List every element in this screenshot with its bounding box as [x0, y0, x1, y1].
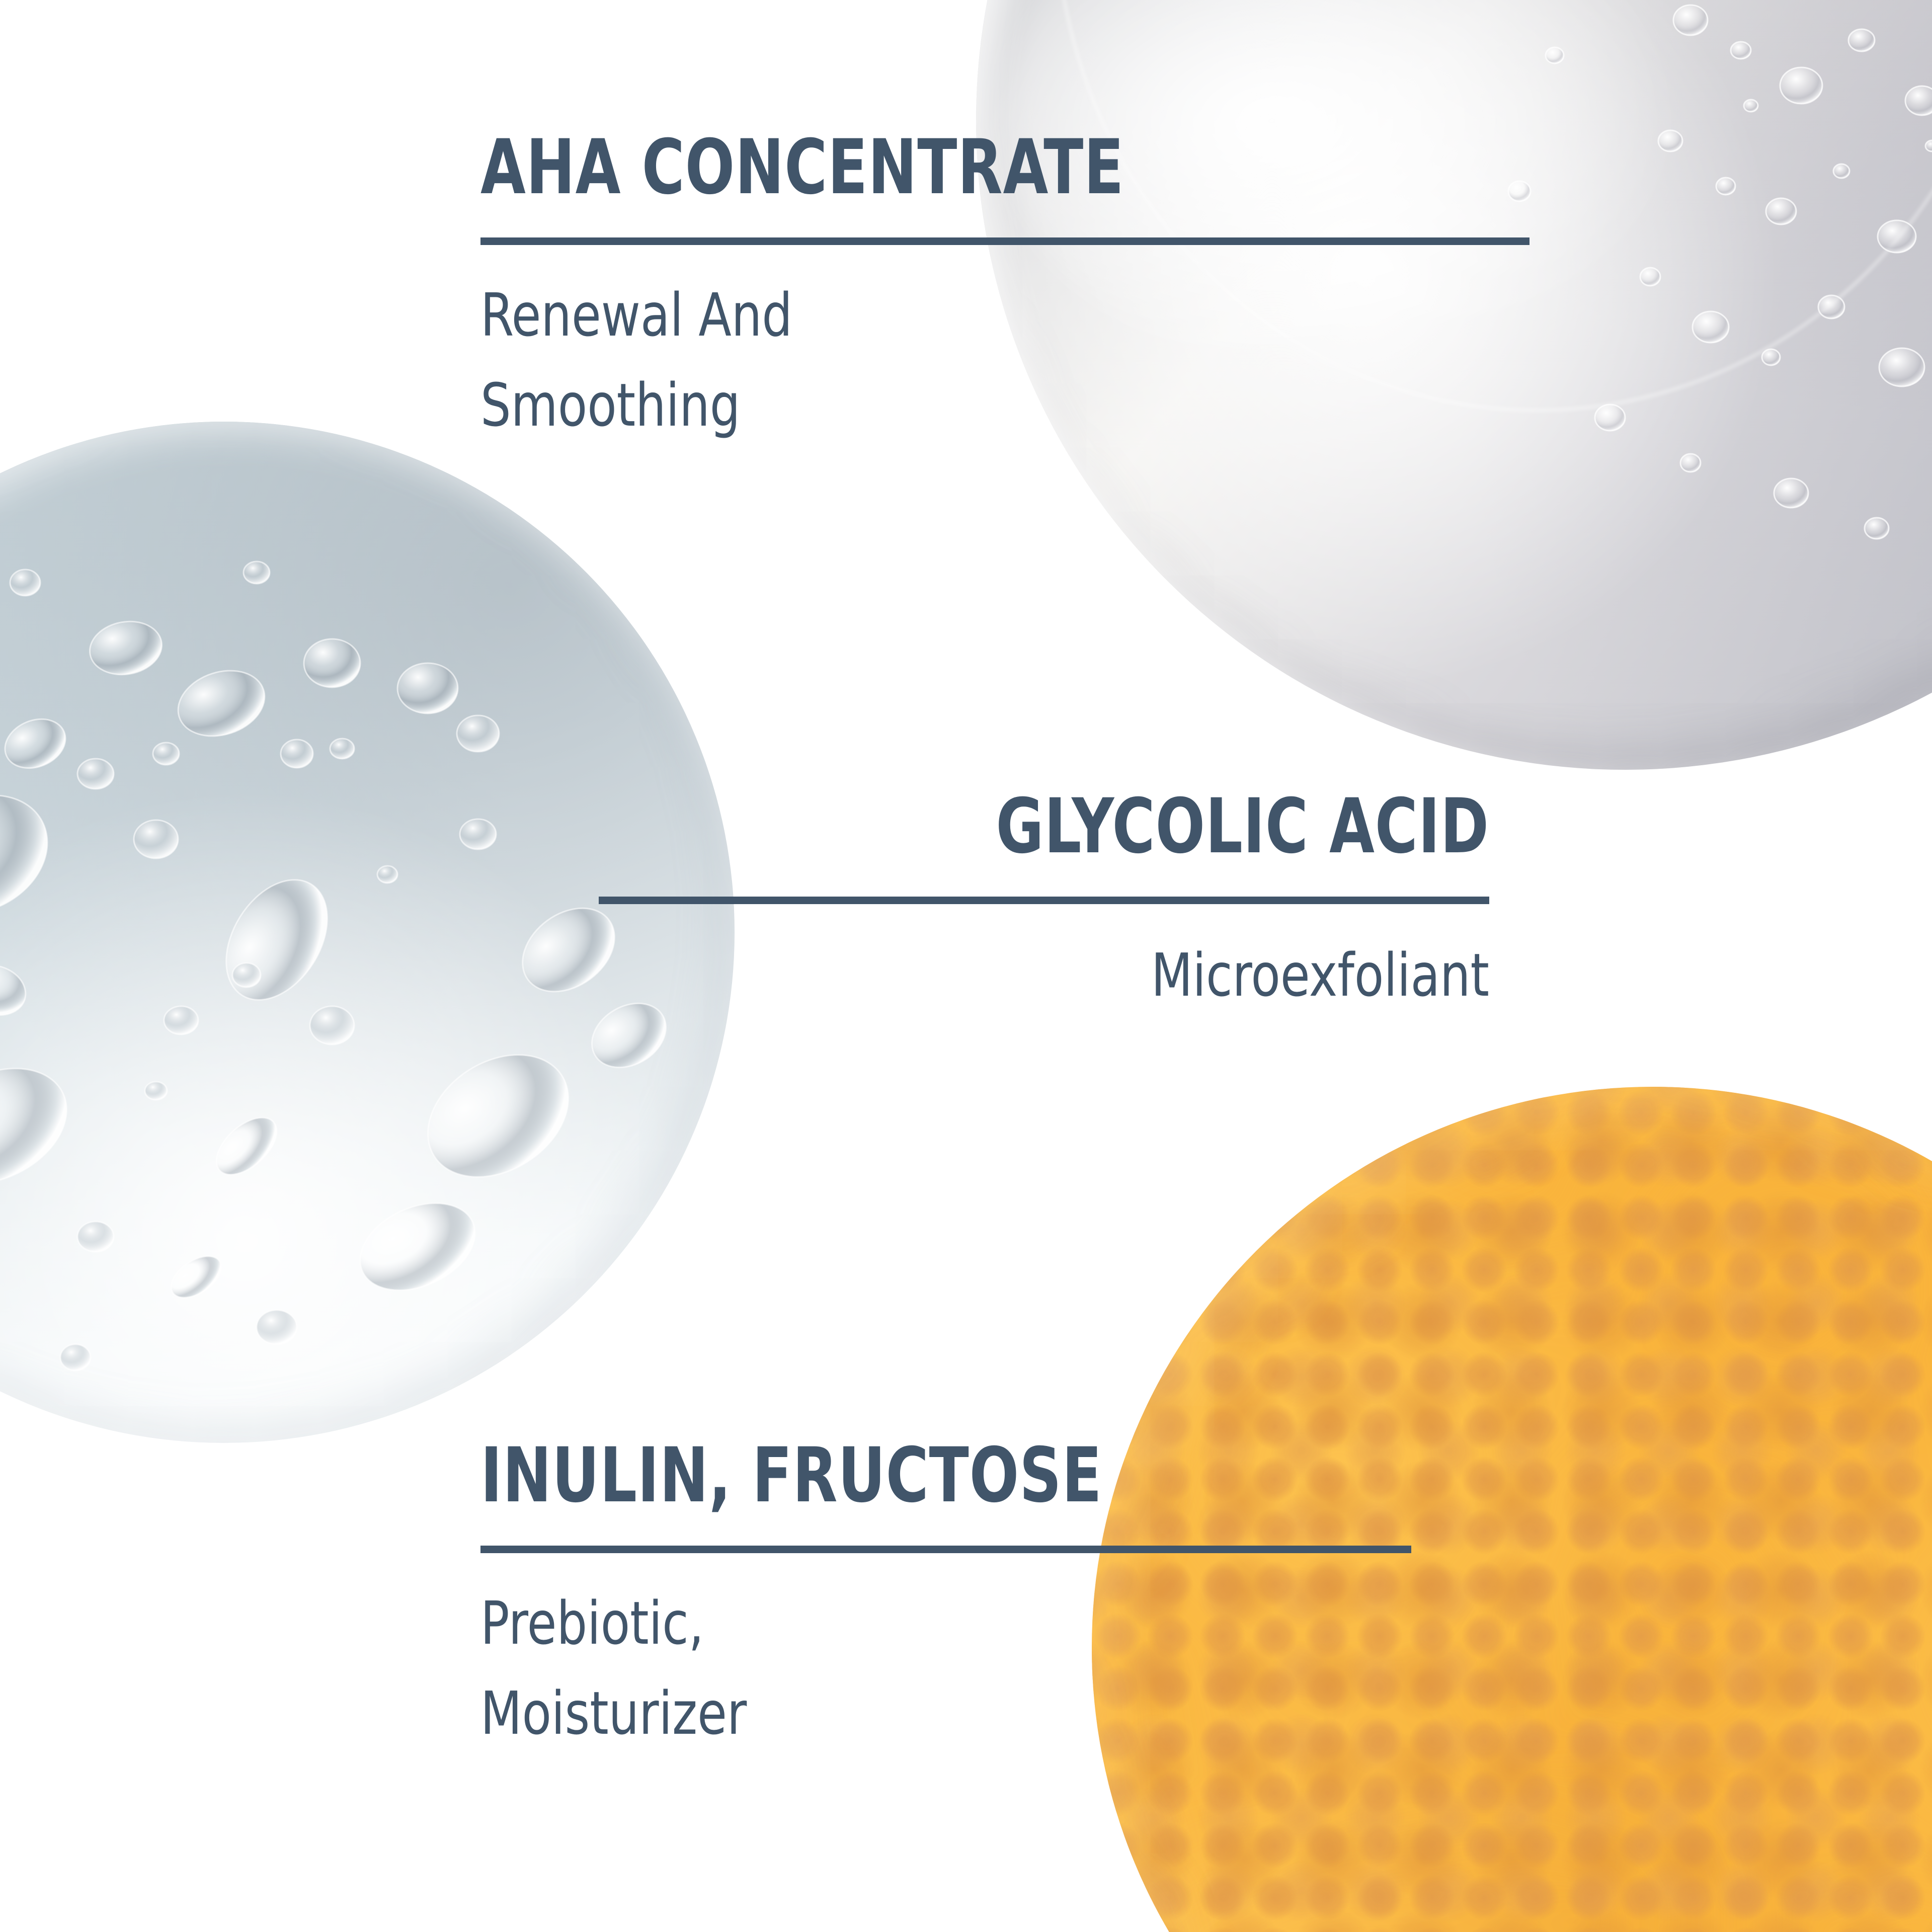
ingredient-benefit-inulin-fructose: Prebiotic, Moisturizer: [480, 1578, 1318, 1759]
ingredient-name-glycolic-acid: GLYCOLIC ACID: [723, 789, 1489, 864]
ingredient-block-glycolic-acid: GLYCOLIC ACID Microexfoliant: [599, 789, 1489, 1020]
divider-rule-inulin: [480, 1546, 1411, 1553]
divider-rule-aha: [480, 237, 1530, 245]
ingredient-name-aha-concentrate: AHA CONCENTRATE: [480, 130, 1385, 205]
ingredient-name-inulin-fructose: INULIN, FRUCTOSE: [480, 1438, 1281, 1513]
ingredient-block-aha-concentrate: AHA CONCENTRATE Renewal And Smoothing: [480, 130, 1532, 451]
ingredient-benefit-aha-concentrate: Renewal And Smoothing: [480, 270, 1427, 451]
divider-rule-glycolic: [599, 897, 1489, 904]
infographic-canvas: AHA CONCENTRATE Renewal And Smoothing GL…: [0, 0, 1932, 1932]
ingredient-benefit-glycolic-acid: Microexfoliant: [688, 930, 1489, 1020]
ingredient-block-inulin-fructose: INULIN, FRUCTOSE Prebiotic, Moisturizer: [480, 1438, 1411, 1759]
